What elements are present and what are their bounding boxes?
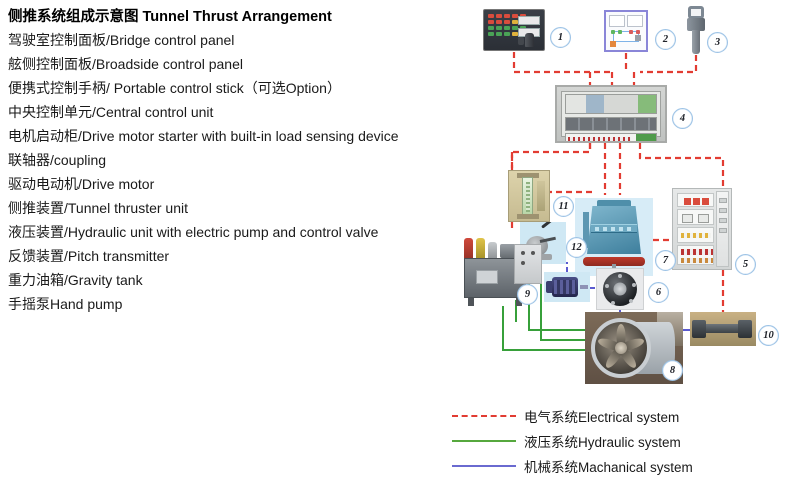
broadside-screen-left <box>609 15 625 27</box>
caption-item-3: 便携式控制手柄/ Portable control stick（可选Option… <box>8 76 468 100</box>
legend-swatch-hydraulic <box>452 440 516 442</box>
caption-item-2: 舷侧控制面板/Broadside control panel <box>8 52 468 76</box>
broadside-control-panel[interactable] <box>604 10 648 52</box>
caption-item-8: 侧推装置/Tunnel thruster unit <box>8 196 468 220</box>
panel-joystick[interactable] <box>525 33 534 47</box>
caption-item-7: 驱动电动机/Drive motor <box>8 172 468 196</box>
tank-sight-glass <box>522 177 533 215</box>
drive-motor[interactable] <box>544 272 590 302</box>
tank-flange-bottom <box>517 214 539 219</box>
tank-nameplate <box>476 270 498 284</box>
badge-5: 5 <box>735 254 756 275</box>
tank-body <box>537 181 545 211</box>
tank-leg-left <box>468 298 474 306</box>
badge-4: 4 <box>672 108 693 129</box>
broadside-screen-right <box>627 15 643 27</box>
legend-swatch-mechanical <box>452 465 516 467</box>
bridge-control-panel[interactable] <box>483 9 545 51</box>
legend-row-hydraulic: 液压系统Hydraulic system <box>452 428 782 453</box>
coupling-hub <box>614 283 627 296</box>
caption-item-10: 反馈装置/Pitch transmitter <box>8 244 468 268</box>
legend-row-electrical: 电气系统Electrical system <box>452 403 782 428</box>
cabinet-interior <box>561 91 661 137</box>
tunnel-thruster-unit[interactable] <box>575 198 653 276</box>
pitch-transmitter[interactable] <box>690 312 756 346</box>
caption-item-5: 电机启动柜/Drive motor starter with built-in … <box>8 124 468 148</box>
badge-10: 10 <box>758 325 779 346</box>
legend-swatch-electrical <box>452 415 516 417</box>
pump-lever[interactable] <box>541 222 557 229</box>
stick-grip <box>692 30 700 54</box>
badge-2: 2 <box>655 29 676 50</box>
control-row-bottom <box>565 133 657 143</box>
control-row-middle <box>565 117 657 131</box>
control-row-top <box>565 94 657 114</box>
drive-motor-starter-cabinet[interactable] <box>672 188 732 270</box>
legend-label-mechanical: 机械系统Machanical system <box>524 456 693 476</box>
badge-9: 9 <box>517 284 538 305</box>
panel-display-top <box>518 16 540 25</box>
coupling[interactable] <box>596 268 644 310</box>
badge-6: 6 <box>648 282 669 303</box>
badge-7: 7 <box>655 250 676 271</box>
cabinet-door[interactable] <box>716 191 729 267</box>
badge-8: 8 <box>662 360 683 381</box>
starter-bay-2 <box>677 209 714 225</box>
diagram-page: 侧推系统组成示意图 Tunnel Thrust Arrangement 驾驶室控… <box>0 0 788 490</box>
caption-item-1: 驾驶室控制面板/Bridge control panel <box>8 28 468 52</box>
gravity-tank[interactable] <box>508 170 550 222</box>
badge-12: 12 <box>566 237 587 258</box>
motor-body <box>552 277 578 297</box>
legend-label-electrical: 电气系统Electrical system <box>524 406 679 426</box>
badge-1: 1 <box>550 27 571 48</box>
portable-control-stick[interactable] <box>683 6 709 54</box>
legend-row-mechanical: 机械系统Machanical system <box>452 453 782 478</box>
caption-item-9: 液压装置/Hydraulic unit with electric pump a… <box>8 220 468 244</box>
control-valve-box[interactable] <box>514 244 542 284</box>
caption-item-6: 联轴器/coupling <box>8 148 468 172</box>
starter-bay-1 <box>677 193 714 207</box>
system-diagram: 1 2 3 4 <box>440 0 788 400</box>
caption-list: 侧推系统组成示意图 Tunnel Thrust Arrangement 驾驶室控… <box>8 6 468 316</box>
thruster-band <box>591 224 637 233</box>
caption-item-4: 中央控制单元/Central control unit <box>8 100 468 124</box>
page-title: 侧推系统组成示意图 Tunnel Thrust Arrangement <box>8 6 468 28</box>
caption-item-12: 手摇泵Hand pump <box>8 292 468 316</box>
propeller-hub <box>615 342 627 354</box>
legend-label-hydraulic: 液压系统Hydraulic system <box>524 431 681 451</box>
transmitter-block-right <box>738 320 752 338</box>
legend: 电气系统Electrical system 液压系统Hydraulic syst… <box>452 403 782 478</box>
caption-item-11: 重力油箱/Gravity tank <box>8 268 468 292</box>
thruster-duct <box>591 318 651 378</box>
central-control-unit[interactable] <box>555 85 667 143</box>
panel-knob[interactable] <box>518 37 524 45</box>
transmitter-block-left <box>692 320 706 338</box>
starter-bay-3 <box>677 227 714 243</box>
motor-shaft <box>580 285 588 289</box>
badge-11: 11 <box>553 196 574 217</box>
starter-bay-4 <box>677 245 714 265</box>
badge-3: 3 <box>707 32 728 53</box>
